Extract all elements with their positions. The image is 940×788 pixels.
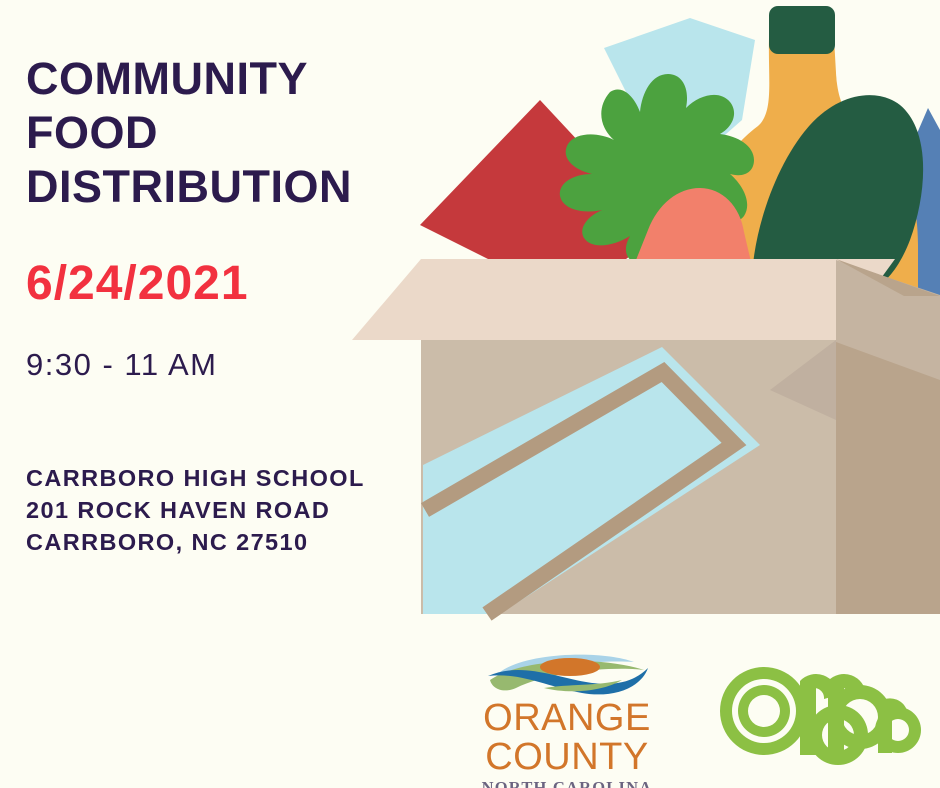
orange-county-name-line-2: COUNTY [479,739,655,776]
community-food-distribution-flyer: COMMUNITY FOOD DISTRIBUTION 6/24/2021 9:… [0,0,940,788]
logo-row: ORANGE COUNTY NORTH CAROLINA [0,640,940,788]
orange-county-logo: ORANGE COUNTY NORTH CAROLINA [479,650,655,788]
box-side-panel [836,340,940,614]
orange-county-name-line-1: ORANGE [479,700,655,737]
bottle-cap-shape [769,6,835,54]
orange-county-state-label: NORTH CAROLINA [479,779,655,788]
grocery-box-illustration [0,0,940,640]
carrboro-logo [712,657,924,769]
box-front-flap [352,259,895,340]
orange-county-swoosh-icon [482,650,652,698]
